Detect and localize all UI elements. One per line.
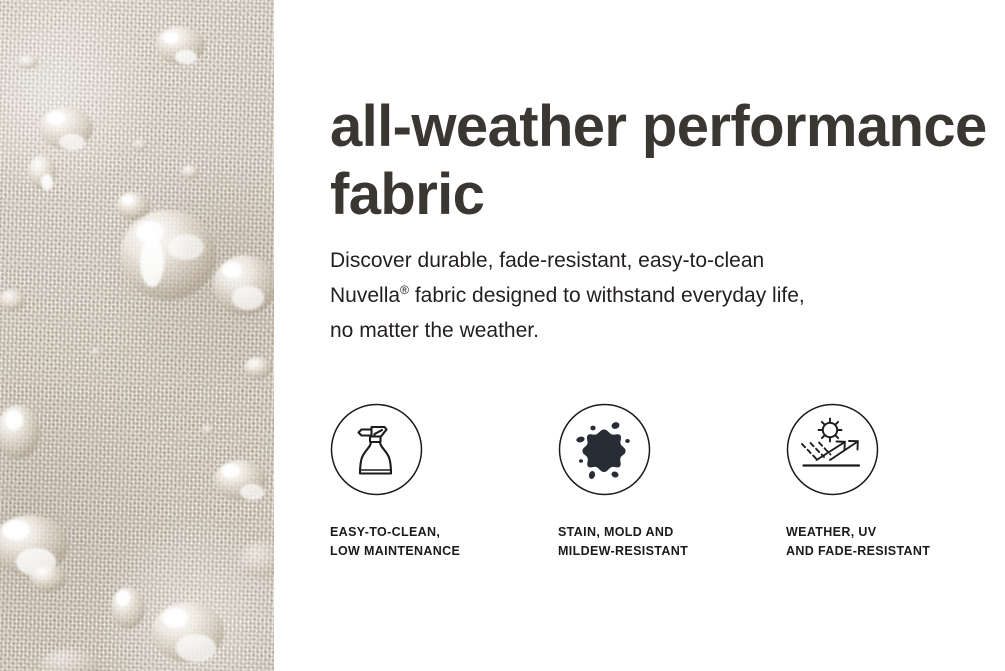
sun-uv-reflect-icon bbox=[786, 403, 879, 496]
feature-item-stain-resistant: STAIN, MOLD AND MILDEW-RESISTANT bbox=[558, 403, 786, 561]
feature-item-easy-to-clean: EASY-TO-CLEAN, LOW MAINTENANCE bbox=[330, 403, 558, 561]
subcopy-line-1: Discover durable, fade-resistant, easy-t… bbox=[330, 249, 764, 272]
all-weather-fabric-banner: all-weather performance fabric Discover … bbox=[0, 0, 1005, 671]
water-droplets-group bbox=[0, 0, 274, 671]
subcopy-line-3: no matter the weather. bbox=[330, 319, 539, 342]
feature-list: EASY-TO-CLEAN, LOW MAINTENANCE bbox=[330, 403, 990, 561]
subcopy-line-2: fabric designed to withstand everyday li… bbox=[409, 284, 805, 307]
page-title: all-weather performance fabric bbox=[330, 93, 1005, 229]
spray-bottle-icon bbox=[330, 403, 423, 496]
fabric-with-water-droplets-photo bbox=[0, 0, 274, 671]
subcopy-paragraph: Discover durable, fade-resistant, easy-t… bbox=[330, 243, 970, 348]
feature-caption: WEATHER, UV AND FADE-RESISTANT bbox=[786, 523, 986, 561]
stain-splat-icon bbox=[558, 403, 651, 496]
feature-caption: STAIN, MOLD AND MILDEW-RESISTANT bbox=[558, 523, 786, 561]
registered-trademark-icon: ® bbox=[400, 283, 409, 297]
content-panel: all-weather performance fabric Discover … bbox=[274, 0, 1005, 671]
feature-caption: EASY-TO-CLEAN, LOW MAINTENANCE bbox=[330, 523, 558, 561]
feature-item-weather-uv-resistant: WEATHER, UV AND FADE-RESISTANT bbox=[786, 403, 986, 561]
brand-name: Nuvella bbox=[330, 284, 400, 307]
